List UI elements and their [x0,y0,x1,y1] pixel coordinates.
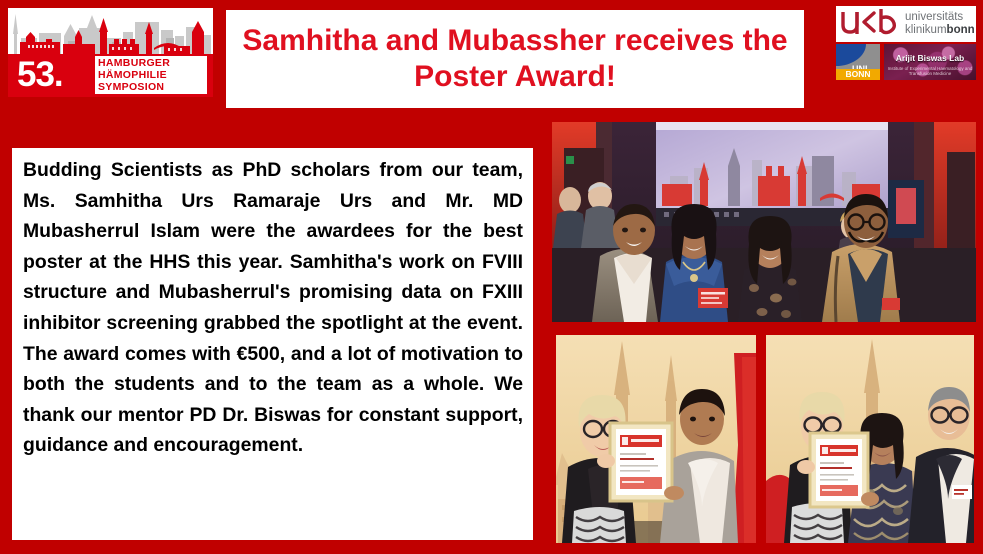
ukb-logo: universitäts klinikumbonn [836,6,976,42]
ukb-wordmark: universitäts klinikumbonn [905,11,975,37]
group-photo [552,122,976,322]
ukb-line-2: klinikumbonn [905,24,975,37]
lab-banner-title: Arijit Biswas Lab [884,53,976,63]
ukb-line-2-bold: bonn [947,24,975,36]
ukb-line-2-light: klinikum [905,24,947,36]
congress-logo: 53. HAMBURGER HÄMOPHILIE SYMPOSION [8,8,213,97]
announcement-text: Budding Scientists as PhD scholars from … [23,155,523,461]
poster-slide: 53. HAMBURGER HÄMOPHILIE SYMPOSION Samhi… [0,0,983,554]
uni-bonn-crest-icon [836,44,866,66]
hamburg-skyline-icon [8,8,213,54]
title-box: Samhitha and Mubassher receives the Post… [226,10,804,108]
announcement-text-panel: Budding Scientists as PhD scholars from … [12,148,533,540]
ukb-line-1: universitäts [905,11,975,24]
uni-bonn-bonn-text: BONN [836,69,880,80]
award-photo-samhitha [766,335,974,543]
congress-edition-number: 53. [17,56,63,94]
congress-name-line3: SYMPOSION [98,81,207,93]
congress-logo-wordmark: 53. HAMBURGER HÄMOPHILIE SYMPOSION [8,54,213,97]
page-title: Samhitha and Mubassher receives the Post… [226,23,804,95]
congress-name-line2: HÄMOPHILIE [98,69,207,81]
lab-banner-subtitle: Institute of Experimental Haematology an… [884,66,976,76]
lab-banner: Arijit Biswas Lab Institute of Experimen… [884,44,976,80]
award-photo-mubassher [556,335,756,543]
congress-name-line1: HAMBURGER [98,57,207,69]
uni-bonn-logo: UNI BONN [836,44,880,80]
ukb-mark-icon [841,8,899,41]
congress-name-block: HAMBURGER HÄMOPHILIE SYMPOSION [95,56,207,94]
